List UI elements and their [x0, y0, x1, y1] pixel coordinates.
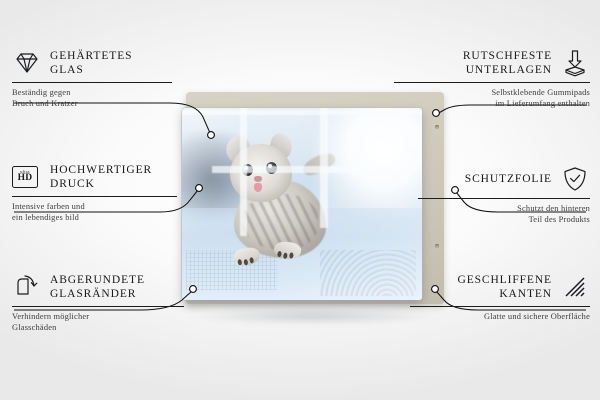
feature-title: HOCHWERTIGER DRUCK — [50, 163, 152, 191]
backer-hole-bottom — [435, 244, 439, 248]
window-mullion — [182, 110, 422, 115]
hd-label: HD — [18, 174, 33, 184]
feature-subtitle: Selbstklebende Gummipads im Lieferumfang… — [394, 87, 590, 109]
feature-head: GESCHLIFFENE KANTEN — [410, 272, 590, 302]
feature-divider — [12, 196, 177, 197]
feature-abgerundete-glasraender[interactable]: ABGERUNDETE GLASRÄNDER Verhindern möglic… — [12, 272, 184, 333]
feature-divider — [418, 198, 590, 199]
product-drop-shadow — [190, 308, 436, 324]
feature-head: ultra HD HOCHWERTIGER DRUCK — [12, 162, 177, 192]
rounded-corner-icon — [12, 272, 42, 302]
feature-subtitle: Schutzt den hinteren Teil des Produkts — [418, 203, 590, 225]
product-image — [182, 92, 444, 312]
shield-check-icon — [560, 164, 590, 194]
feature-head: GEHÄRTETES GLAS — [12, 48, 172, 78]
diamond-icon — [12, 48, 42, 78]
kitten-tongue — [254, 183, 262, 192]
window-mullion — [212, 166, 362, 173]
feature-divider — [410, 306, 590, 307]
feature-head: SCHUTZFOLIE — [418, 164, 590, 194]
feature-subtitle: Beständig gegen Bruch und Kratzer — [12, 87, 172, 109]
feature-subtitle: Glatte und sichere Oberfläche — [410, 311, 590, 322]
feature-divider — [12, 306, 184, 307]
feature-rutschfeste-unterlagen[interactable]: RUTSCHFESTE UNTERLAGEN Selbstklebende Gu… — [394, 48, 590, 109]
arrow-down-pad-icon — [560, 48, 590, 78]
feature-subtitle: Verhindern möglicher Glasschäden — [12, 311, 184, 333]
kitten-toe — [243, 259, 248, 266]
photo-mesh-texture — [186, 250, 278, 290]
feature-title: GESCHLIFFENE KANTEN — [457, 273, 552, 301]
kitten-toe — [283, 253, 288, 259]
kitten-toe — [249, 257, 254, 264]
feature-hochwertiger-druck[interactable]: ultra HD HOCHWERTIGER DRUCK Intensive fa… — [12, 162, 177, 223]
diagonal-lines-icon — [560, 272, 590, 302]
kitten-toe — [277, 251, 282, 257]
feature-gehaertetes-glas[interactable]: GEHÄRTETES GLAS Beständig gegen Bruch un… — [12, 48, 172, 109]
kitten-toe — [289, 252, 294, 258]
ultra-hd-icon: ultra HD — [12, 162, 42, 192]
kitten-nose — [254, 176, 262, 182]
feature-head: ABGERUNDETE GLASRÄNDER — [12, 272, 184, 302]
feature-title: RUTSCHFESTE UNTERLAGEN — [463, 49, 552, 77]
infographic-canvas: GEHÄRTETES GLAS Beständig gegen Bruch un… — [0, 0, 600, 400]
glass-board — [182, 108, 422, 300]
feature-divider — [394, 82, 590, 83]
backer-hole-top — [435, 125, 439, 129]
feature-subtitle: Intensive farben und ein lebendiges bild — [12, 201, 177, 223]
feature-title: SCHUTZFOLIE — [465, 172, 552, 186]
feature-divider — [12, 82, 172, 83]
feature-head: RUTSCHFESTE UNTERLAGEN — [394, 48, 590, 78]
feature-schutzfolie[interactable]: SCHUTZFOLIE Schutzt den hinteren Teil de… — [418, 164, 590, 225]
feature-title: GEHÄRTETES GLAS — [50, 49, 132, 77]
feature-title: ABGERUNDETE GLASRÄNDER — [50, 273, 145, 301]
kitten-toe — [237, 259, 242, 266]
feature-geschliffene-kanten[interactable]: GESCHLIFFENE KANTEN Glatte und sichere O… — [410, 272, 590, 322]
kitten-photo — [182, 108, 422, 300]
